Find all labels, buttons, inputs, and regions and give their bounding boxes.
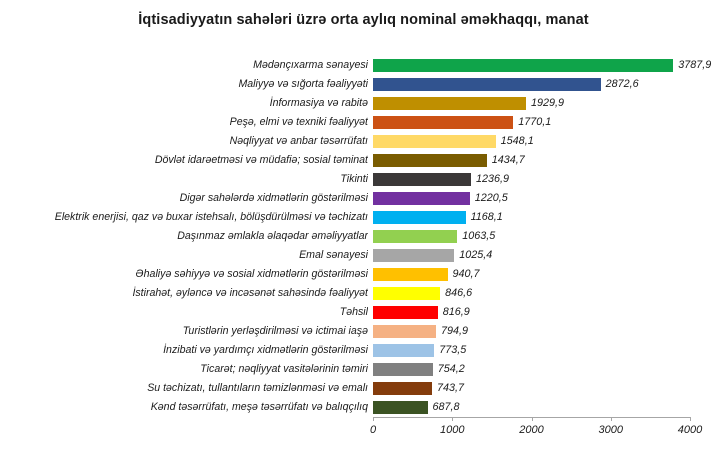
category-label: Ticarət; nəqliyyat vasitələrinin təmiri [4,360,368,379]
bar-value-label: 940,7 [453,265,480,284]
bar-value-label: 3787,9 [678,56,711,75]
x-axis-tick-mark [532,417,533,421]
bar-row: İnformasiya və rabitə1929,9 [0,94,727,113]
bar-track: 3787,9 [373,56,727,75]
bar[interactable] [373,382,432,395]
bar-row: Daşınmaz əmlakla əlaqədar əməliyyatlar10… [0,227,727,246]
category-label: Nəqliyyat və anbar təsərrüfatı [4,132,368,151]
x-axis-tick-mark [452,417,453,421]
category-label: Elektrik enerjisi, qaz və buxar istehsal… [4,208,368,227]
bar-row: Dövlət idarəetməsi və müdafiə; sosial tə… [0,151,727,170]
bar-value-label: 2872,6 [606,75,639,94]
bar[interactable] [373,97,526,110]
bar-value-label: 1548,1 [501,132,534,151]
bar[interactable] [373,363,433,376]
category-label: İstirahət, əyləncə və incəsənət sahəsind… [4,284,368,303]
bar-row: İnzibati və yardımçı xidmətlərin göstəri… [0,341,727,360]
bar[interactable] [373,230,457,243]
bar-row: Digər sahələrdə xidmətlərin göstərilməsi… [0,189,727,208]
x-axis-tick-mark [373,417,374,421]
category-label: Digər sahələrdə xidmətlərin göstərilməsi [4,189,368,208]
bar-row: Kənd təsərrüfatı, meşə təsərrüfatı və ba… [0,398,727,417]
bar-value-label: 1063,5 [462,227,495,246]
bar-track: 1929,9 [373,94,727,113]
plot-area: Mədənçıxarma sənayesi3787,9Maliyyə və sı… [0,55,727,417]
bar-value-label: 1929,9 [531,94,564,113]
bar[interactable] [373,306,438,319]
bar[interactable] [373,268,448,281]
bar-value-label: 816,9 [443,303,470,322]
x-axis-tick-label: 0 [343,424,403,436]
category-label: Əhaliyə səhiyyə və sosial xidmətlərin gö… [4,265,368,284]
category-label: Turistlərin yerləşdirilməsi və ictimai i… [4,322,368,341]
bar-track: 687,8 [373,398,727,417]
bar-track: 1220,5 [373,189,727,208]
category-label: Peşə, elmi və texniki fəaliyyət [4,113,368,132]
bar-track: 1063,5 [373,227,727,246]
bar-track: 1548,1 [373,132,727,151]
bar-value-label: 1220,5 [475,189,508,208]
x-axis-tick-label: 2000 [502,424,562,436]
bar-track: 940,7 [373,265,727,284]
bar-row: Su təchizatı, tullantıların təmizlənməsi… [0,379,727,398]
bar-value-label: 1236,9 [476,170,509,189]
bar-track: 743,7 [373,379,727,398]
category-label: Tikinti [4,170,368,189]
bar[interactable] [373,344,434,357]
bar-track: 1236,9 [373,170,727,189]
x-axis-tick-mark [611,417,612,421]
bar-value-label: 773,5 [439,341,466,360]
bar-row: Turistlərin yerləşdirilməsi və ictimai i… [0,322,727,341]
bar-value-label: 743,7 [437,379,464,398]
bar-track: 773,5 [373,341,727,360]
bar-value-label: 1770,1 [518,113,551,132]
bar[interactable] [373,325,436,338]
bar[interactable] [373,192,470,205]
bar[interactable] [373,211,466,224]
bar-row: Maliyyə və sığorta fəaliyyəti2872,6 [0,75,727,94]
chart-title: İqtisadiyyatın sahələri üzrə orta aylıq … [0,12,727,28]
bar[interactable] [373,173,471,186]
bar-value-label: 1434,7 [492,151,525,170]
category-label: Emal sənayesi [4,246,368,265]
bar-track: 1025,4 [373,246,727,265]
bar-value-label: 754,2 [438,360,465,379]
bar[interactable] [373,154,487,167]
category-label: Mədənçıxarma sənayesi [4,56,368,75]
x-axis-tick-label: 3000 [581,424,641,436]
bar-track: 816,9 [373,303,727,322]
bar-row: Tikinti1236,9 [0,170,727,189]
bar-row: Ticarət; nəqliyyat vasitələrinin təmiri7… [0,360,727,379]
bar-row: Mədənçıxarma sənayesi3787,9 [0,56,727,75]
bar-row: Təhsil816,9 [0,303,727,322]
bar[interactable] [373,135,496,148]
bar[interactable] [373,249,454,262]
bar-value-label: 687,8 [433,398,460,417]
bar[interactable] [373,116,513,129]
bar-track: 1434,7 [373,151,727,170]
bar[interactable] [373,401,428,414]
category-label: Dövlət idarəetməsi və müdafiə; sosial tə… [4,151,368,170]
bar-row: Elektrik enerjisi, qaz və buxar istehsal… [0,208,727,227]
bar[interactable] [373,59,673,72]
bar-track: 1770,1 [373,113,727,132]
bar-track: 754,2 [373,360,727,379]
category-label: Təhsil [4,303,368,322]
bar[interactable] [373,287,440,300]
bar-value-label: 794,9 [441,322,468,341]
bar[interactable] [373,78,601,91]
bar-value-label: 1025,4 [459,246,492,265]
category-label: İnformasiya və rabitə [4,94,368,113]
bar-value-label: 1168,1 [471,208,503,227]
bar-row: Peşə, elmi və texniki fəaliyyət1770,1 [0,113,727,132]
bar-track: 1168,1 [373,208,727,227]
bar-row: İstirahət, əyləncə və incəsənət sahəsind… [0,284,727,303]
bar-row: Nəqliyyat və anbar təsərrüfatı1548,1 [0,132,727,151]
bar-value-label: 846,6 [445,284,472,303]
bar-row: Əhaliyə səhiyyə və sosial xidmətlərin gö… [0,265,727,284]
x-axis-tick-label: 4000 [660,424,720,436]
bar-track: 794,9 [373,322,727,341]
bar-row: Emal sənayesi1025,4 [0,246,727,265]
bar-track: 2872,6 [373,75,727,94]
category-label: Daşınmaz əmlakla əlaqədar əməliyyatlar [4,227,368,246]
x-axis-tick-label: 1000 [422,424,482,436]
category-label: Su təchizatı, tullantıların təmizlənməsi… [4,379,368,398]
bar-track: 846,6 [373,284,727,303]
category-label: Maliyyə və sığorta fəaliyyəti [4,75,368,94]
chart-container: İqtisadiyyatın sahələri üzrə orta aylıq … [0,0,727,451]
category-label: İnzibati və yardımçı xidmətlərin göstəri… [4,341,368,360]
category-label: Kənd təsərrüfatı, meşə təsərrüfatı və ba… [4,398,368,417]
x-axis-tick-mark [690,417,691,421]
